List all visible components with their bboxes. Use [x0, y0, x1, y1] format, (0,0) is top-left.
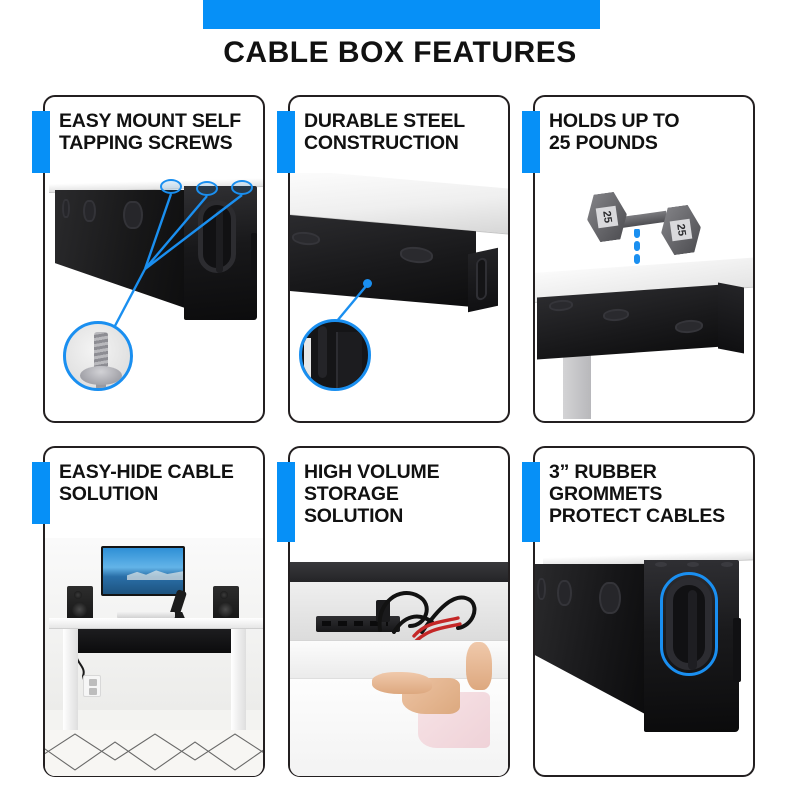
- red-cable: [412, 616, 464, 642]
- card-title: HOLDS UP TO 25 POUNDS: [549, 110, 745, 154]
- steel-edge-rib: [318, 326, 327, 378]
- monitor-icon: [101, 546, 185, 596]
- grommet-icon: [537, 578, 546, 600]
- card-illustration-storage: [290, 544, 508, 776]
- cable-box-front-panel: [535, 564, 645, 714]
- hand-left: [372, 672, 432, 694]
- card-illustration-grommet: [535, 544, 753, 776]
- screw-magnified-view: [63, 321, 133, 391]
- card-title: EASY-HIDE CABLE SOLUTION: [59, 461, 255, 505]
- mounting-screw: [687, 562, 699, 567]
- desktop-surface: [49, 618, 263, 629]
- mounting-screw: [721, 562, 733, 567]
- grommet-icon: [557, 580, 572, 606]
- dumbbell-weight-label: 25: [670, 219, 693, 242]
- feature-card-easy-mount-self-tapping-screws[interactable]: EASY MOUNT SELF TAPPING SCREWS: [43, 95, 265, 423]
- card-illustration-desk-scene: [45, 538, 263, 776]
- card-illustration-steel: [290, 173, 508, 419]
- feature-card-durable-steel-construction[interactable]: DURABLE STEEL CONSTRUCTION: [288, 95, 510, 423]
- floor-rug: [45, 730, 263, 776]
- monitor-screen: [103, 548, 183, 594]
- feature-card-high-volume-storage-solution[interactable]: HIGH VOLUME STORAGE SOLUTION: [288, 446, 510, 777]
- speaker-icon: [67, 586, 93, 622]
- steel-edge-panel: [336, 332, 362, 391]
- card-illustration-weight: 25 25: [535, 173, 753, 419]
- dumbbell-weight-label: 25: [596, 206, 619, 229]
- feature-card-easy-hide-cable-solution[interactable]: EASY-HIDE CABLE SOLUTION: [43, 446, 265, 777]
- screw-head: [80, 366, 122, 385]
- grommet-icon: [599, 582, 621, 614]
- card-accent-tab: [277, 462, 295, 542]
- cable-box-end-panel: [718, 282, 744, 353]
- steel-edge-magnified-view: [299, 319, 371, 391]
- card-accent-tab: [32, 111, 50, 173]
- page-title: CABLE BOX FEATURES: [0, 36, 800, 70]
- card-accent-tab: [32, 462, 50, 524]
- rug-pattern: [45, 730, 263, 776]
- feature-card-holds-up-to-25-pounds[interactable]: HOLDS UP TO 25 POUNDS 25 25: [533, 95, 755, 423]
- feature-card-rubber-grommets-protect-cables[interactable]: 3” RUBBER GROMMETS PROTECT CABLES: [533, 446, 755, 777]
- card-accent-tab: [522, 111, 540, 173]
- speaker-icon: [213, 586, 239, 622]
- hand-right: [466, 642, 492, 690]
- cable-box-front-panel: [290, 215, 476, 308]
- header-accent-bar: [203, 0, 600, 29]
- steel-edge-light: [304, 338, 311, 391]
- cable-box-bracket: [733, 618, 741, 682]
- card-title: EASY MOUNT SELF TAPPING SCREWS: [59, 110, 255, 154]
- desk-leg: [563, 349, 591, 419]
- grommet-highlight-ring: [660, 572, 718, 676]
- desk-underside: [290, 562, 508, 582]
- card-accent-tab: [277, 111, 295, 173]
- card-accent-tab: [522, 462, 540, 542]
- card-title: 3” RUBBER GROMMETS PROTECT CABLES: [549, 461, 745, 528]
- oval-grommet-icon: [476, 257, 487, 301]
- feature-card-grid: EASY MOUNT SELF TAPPING SCREWS: [43, 95, 757, 777]
- wall-outlet-icon: [83, 675, 101, 697]
- card-illustration-screws: [45, 173, 263, 419]
- card-title: HIGH VOLUME STORAGE SOLUTION: [304, 461, 500, 528]
- mounting-screw: [655, 562, 667, 567]
- card-title: DURABLE STEEL CONSTRUCTION: [304, 110, 500, 154]
